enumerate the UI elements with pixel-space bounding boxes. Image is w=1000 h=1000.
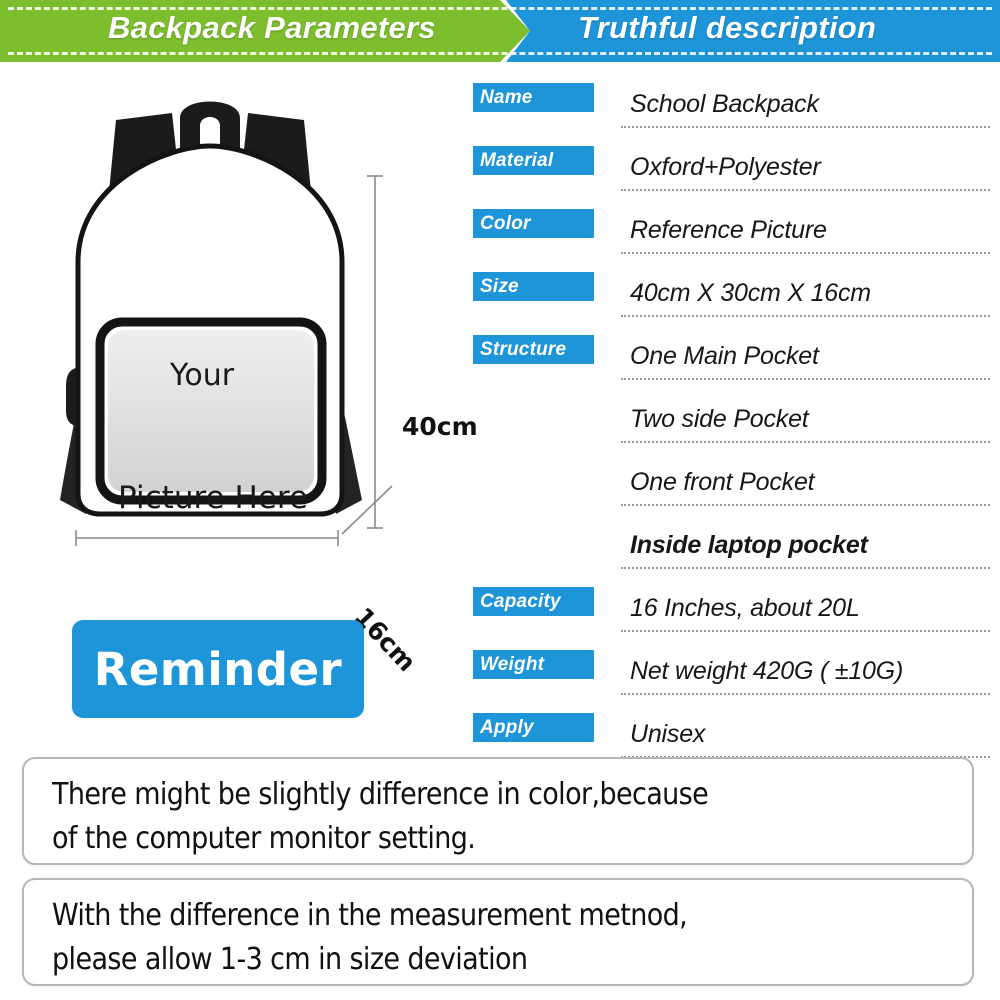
reminder-badge: Reminder [72,620,364,718]
specification-table: NameSchool BackpackMaterialOxford+Polyes… [466,70,990,763]
spec-value-text: Two side Pocket [630,405,809,434]
notice-line: With the difference in the measurement m… [52,894,950,938]
notice-line: There might be slightly difference in co… [52,773,950,817]
spec-label-badge: Apply [473,713,594,742]
spec-row: NameSchool Backpack [466,70,990,133]
placeholder-text-picture-here: Picture Here [118,480,308,516]
notice-line: please allow 1-3 cm in size deviation [52,938,950,982]
side-pocket-tab [66,368,76,426]
spec-value-cell: 40cm X 30cm X 16cm [621,265,990,317]
spec-label-badge: Structure [473,335,594,364]
spec-row: WeightNet weight 420G ( ±10G) [466,637,990,700]
spec-row: Size40cm X 30cm X 16cm [466,259,990,322]
spec-label-text: Structure [473,339,566,361]
spec-label-text: Material [473,150,553,172]
spec-label-text: Weight [473,654,544,676]
spec-label-badge: Material [473,146,594,175]
spec-value-cell: School Backpack [621,76,990,128]
spec-label-text: Name [473,87,533,109]
reminder-label: Reminder [94,643,342,696]
banner-dashed-line-bottom [8,52,992,55]
spec-value-text: 16 Inches, about 20L [630,594,860,623]
spec-row: ColorReference Picture [466,196,990,259]
spec-label-text: Capacity [473,591,561,613]
spec-value-cell: Two side Pocket [621,391,990,443]
spec-row: One front Pocket [466,448,990,511]
backpack-illustration: Your Picture Here 40cm 30cm 16cm [20,90,460,590]
spec-label-text: Size [473,276,519,298]
spec-value-text: Reference Picture [630,216,827,245]
spec-value-text: Unisex [630,720,705,749]
spec-row: Two side Pocket [466,385,990,448]
spec-value-text: Oxford+Polyester [630,153,821,182]
spec-label-badge: Color [473,209,594,238]
spec-value-cell: 16 Inches, about 20L [621,580,990,632]
spec-value-cell: Reference Picture [621,202,990,254]
banner-title-backpack-parameters: Backpack Parameters [108,10,436,46]
spec-value-text: School Backpack [630,90,819,119]
spec-value-cell: Net weight 420G ( ±10G) [621,643,990,695]
spec-value-cell: Inside laptop pocket [621,517,990,569]
notice-line: of the computer monitor setting. [52,817,950,861]
spec-value-cell: Oxford+Polyester [621,139,990,191]
spec-value-text: One front Pocket [630,468,814,497]
spec-value-text: One Main Pocket [630,342,819,371]
spec-value-text: Net weight 420G ( ±10G) [630,657,903,686]
spec-row: StructureOne Main Pocket [466,322,990,385]
spec-label-text: Color [473,213,531,235]
spec-row: Inside laptop pocket [466,511,990,574]
spec-value-text: 40cm X 30cm X 16cm [630,279,871,308]
spec-label-badge: Weight [473,650,594,679]
spec-value-cell: Unisex [621,706,990,758]
spec-row: Capacity16 Inches, about 20L [466,574,990,637]
notice-box-measurement-disclaimer: With the difference in the measurement m… [22,878,974,986]
spec-label-text: Apply [473,717,534,739]
spec-label-badge: Capacity [473,587,594,616]
spec-value-text: Inside laptop pocket [630,531,868,560]
notice-box-color-disclaimer: There might be slightly difference in co… [22,757,974,865]
spec-label-badge: Size [473,272,594,301]
front-pocket-print-area [108,330,314,492]
spec-row: MaterialOxford+Polyester [466,133,990,196]
banner-title-truthful-description: Truthful description [578,10,876,46]
placeholder-text-your: Your [170,358,234,393]
spec-row: ApplyUnisex [466,700,990,763]
spec-value-cell: One Main Pocket [621,328,990,380]
header-banner: Backpack Parameters Truthful description [0,0,1000,62]
spec-value-cell: One front Pocket [621,454,990,506]
spec-label-badge: Name [473,83,594,112]
